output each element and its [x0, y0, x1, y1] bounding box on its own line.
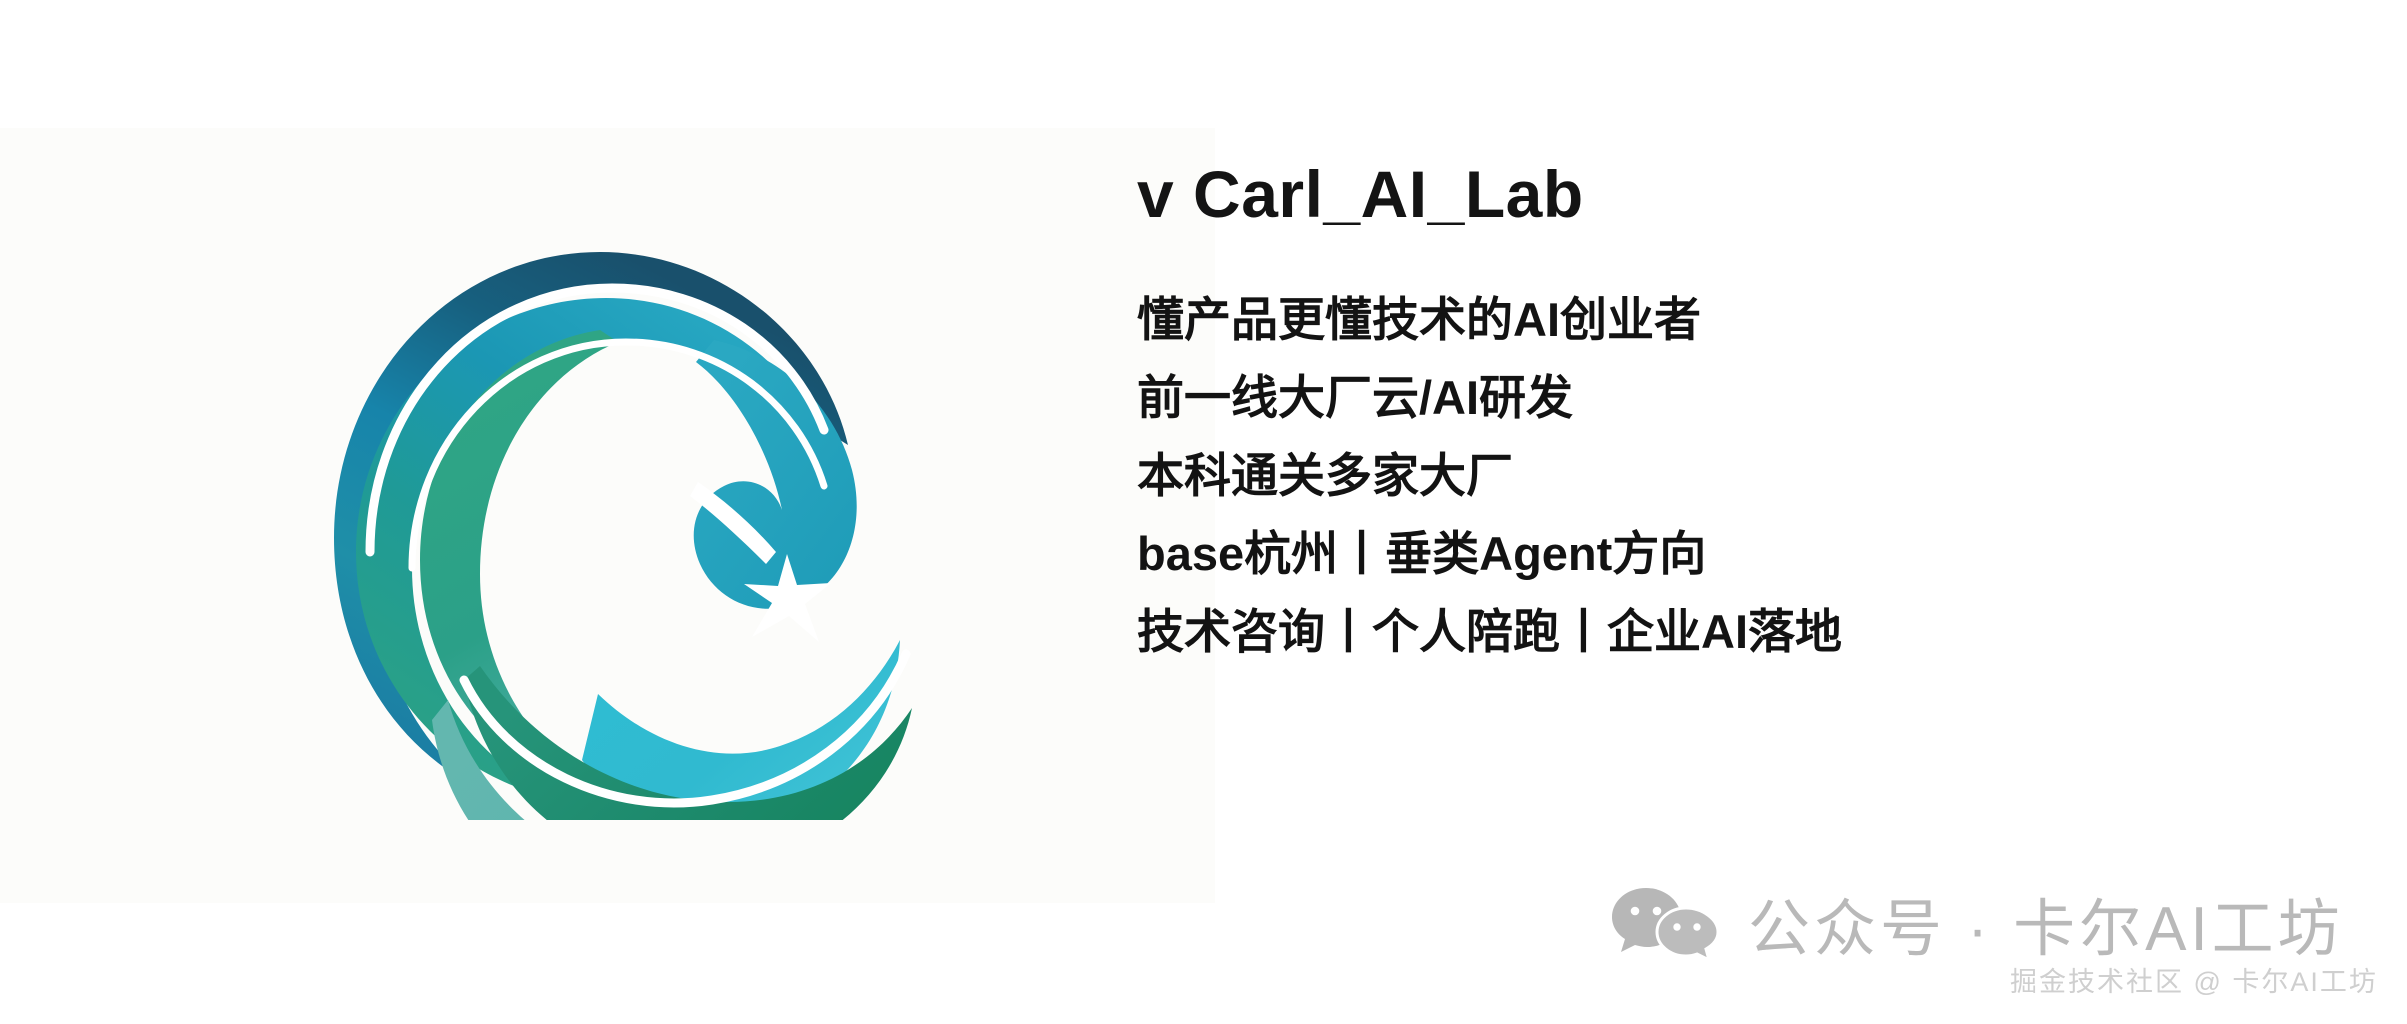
- tagline-line: 本科通关多家大厂: [1137, 437, 2297, 515]
- carl-c-wave-logo: [300, 180, 940, 820]
- watermark-subtext: 掘金技术社区 @ 卡尔AI工坊: [2010, 960, 2378, 999]
- wechat-icon: [1610, 884, 1722, 962]
- tagline-line: base杭州丨垂类Agent方向: [1137, 515, 2297, 593]
- watermark-text: 公众号 · 卡尔AI工坊: [1748, 878, 2344, 968]
- page-title: v Carl_AI_Lab: [1137, 160, 2297, 229]
- tagline-line: 前一线大厂云/AI研发: [1137, 359, 2297, 437]
- profile-card-canvas: v Carl_AI_Lab 懂产品更懂技术的AI创业者 前一线大厂云/AI研发 …: [0, 0, 2407, 1024]
- tagline-line: 技术咨询丨个人陪跑丨企业AI落地: [1137, 593, 2297, 671]
- tagline-list: 懂产品更懂技术的AI创业者 前一线大厂云/AI研发 本科通关多家大厂 base杭…: [1137, 281, 2297, 671]
- logo-terminal-tip: [694, 340, 857, 609]
- profile-text-column: v Carl_AI_Lab 懂产品更懂技术的AI创业者 前一线大厂云/AI研发 …: [1137, 160, 2297, 671]
- tagline-line: 懂产品更懂技术的AI创业者: [1137, 281, 2297, 359]
- watermark: 公众号 · 卡尔AI工坊: [1610, 878, 2344, 968]
